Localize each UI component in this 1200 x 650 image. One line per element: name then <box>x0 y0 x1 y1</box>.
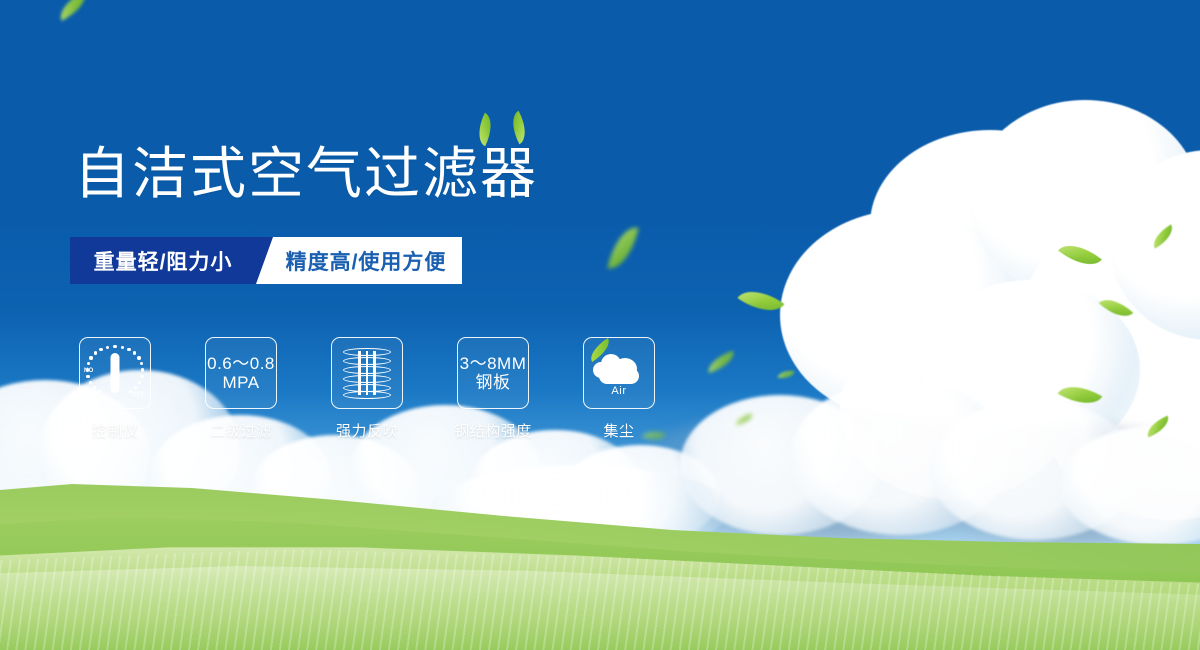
tagline-left: 重量轻/阻力小 <box>70 237 256 284</box>
feature-icon-box <box>331 337 403 409</box>
feature-list: NO OFF 控制仪 0.6～0.8 MPA 二级过滤 <box>79 337 655 441</box>
tagline-bar: 重量轻/阻力小 精度高/使用方便 <box>70 237 462 284</box>
feature-label: 强力反吹 <box>336 420 398 441</box>
filter-coil-icon <box>341 347 393 399</box>
feature-item-two-stage-filter[interactable]: 0.6～0.8 MPA 二级过滤 <box>205 337 277 441</box>
air-label: Air <box>591 385 647 397</box>
feature-icon-box: 0.6～0.8 MPA <box>205 337 277 409</box>
feature-label: 二级过滤 <box>210 420 272 441</box>
feature-label: 钢结构强度 <box>454 420 532 441</box>
air-cloud-icon: Air <box>591 350 647 396</box>
feature-icon-box: NO OFF <box>79 337 151 409</box>
promo-banner: 自洁式空气过滤器 重量轻/阻力小 精度高/使用方便 <box>0 0 1200 650</box>
gauge-label-off: OFF <box>132 392 145 398</box>
gauge-icon: NO OFF <box>86 344 144 402</box>
tagline-right: 精度高/使用方便 <box>256 237 462 284</box>
gauge-needle <box>111 353 120 393</box>
feature-item-dust-collection[interactable]: Air 集尘 <box>583 337 655 441</box>
feature-icon-box: Air <box>583 337 655 409</box>
pressure-icon: 0.6～0.8 MPA <box>207 354 275 392</box>
feature-item-backflush[interactable]: 强力反吹 <box>331 337 403 441</box>
feature-icon-box: 3～8MM 钢板 <box>457 337 529 409</box>
feature-item-steel-strength[interactable]: 3～8MM 钢板 钢结构强度 <box>457 337 529 441</box>
gauge-label-no: NO <box>84 368 94 374</box>
feature-label: 控制仪 <box>92 420 139 441</box>
steel-plate-icon: 3～8MM 钢板 <box>460 354 527 392</box>
feature-label: 集尘 <box>603 420 634 441</box>
page-title: 自洁式空气过滤器 <box>74 146 538 202</box>
feature-item-controller[interactable]: NO OFF 控制仪 <box>79 337 151 441</box>
